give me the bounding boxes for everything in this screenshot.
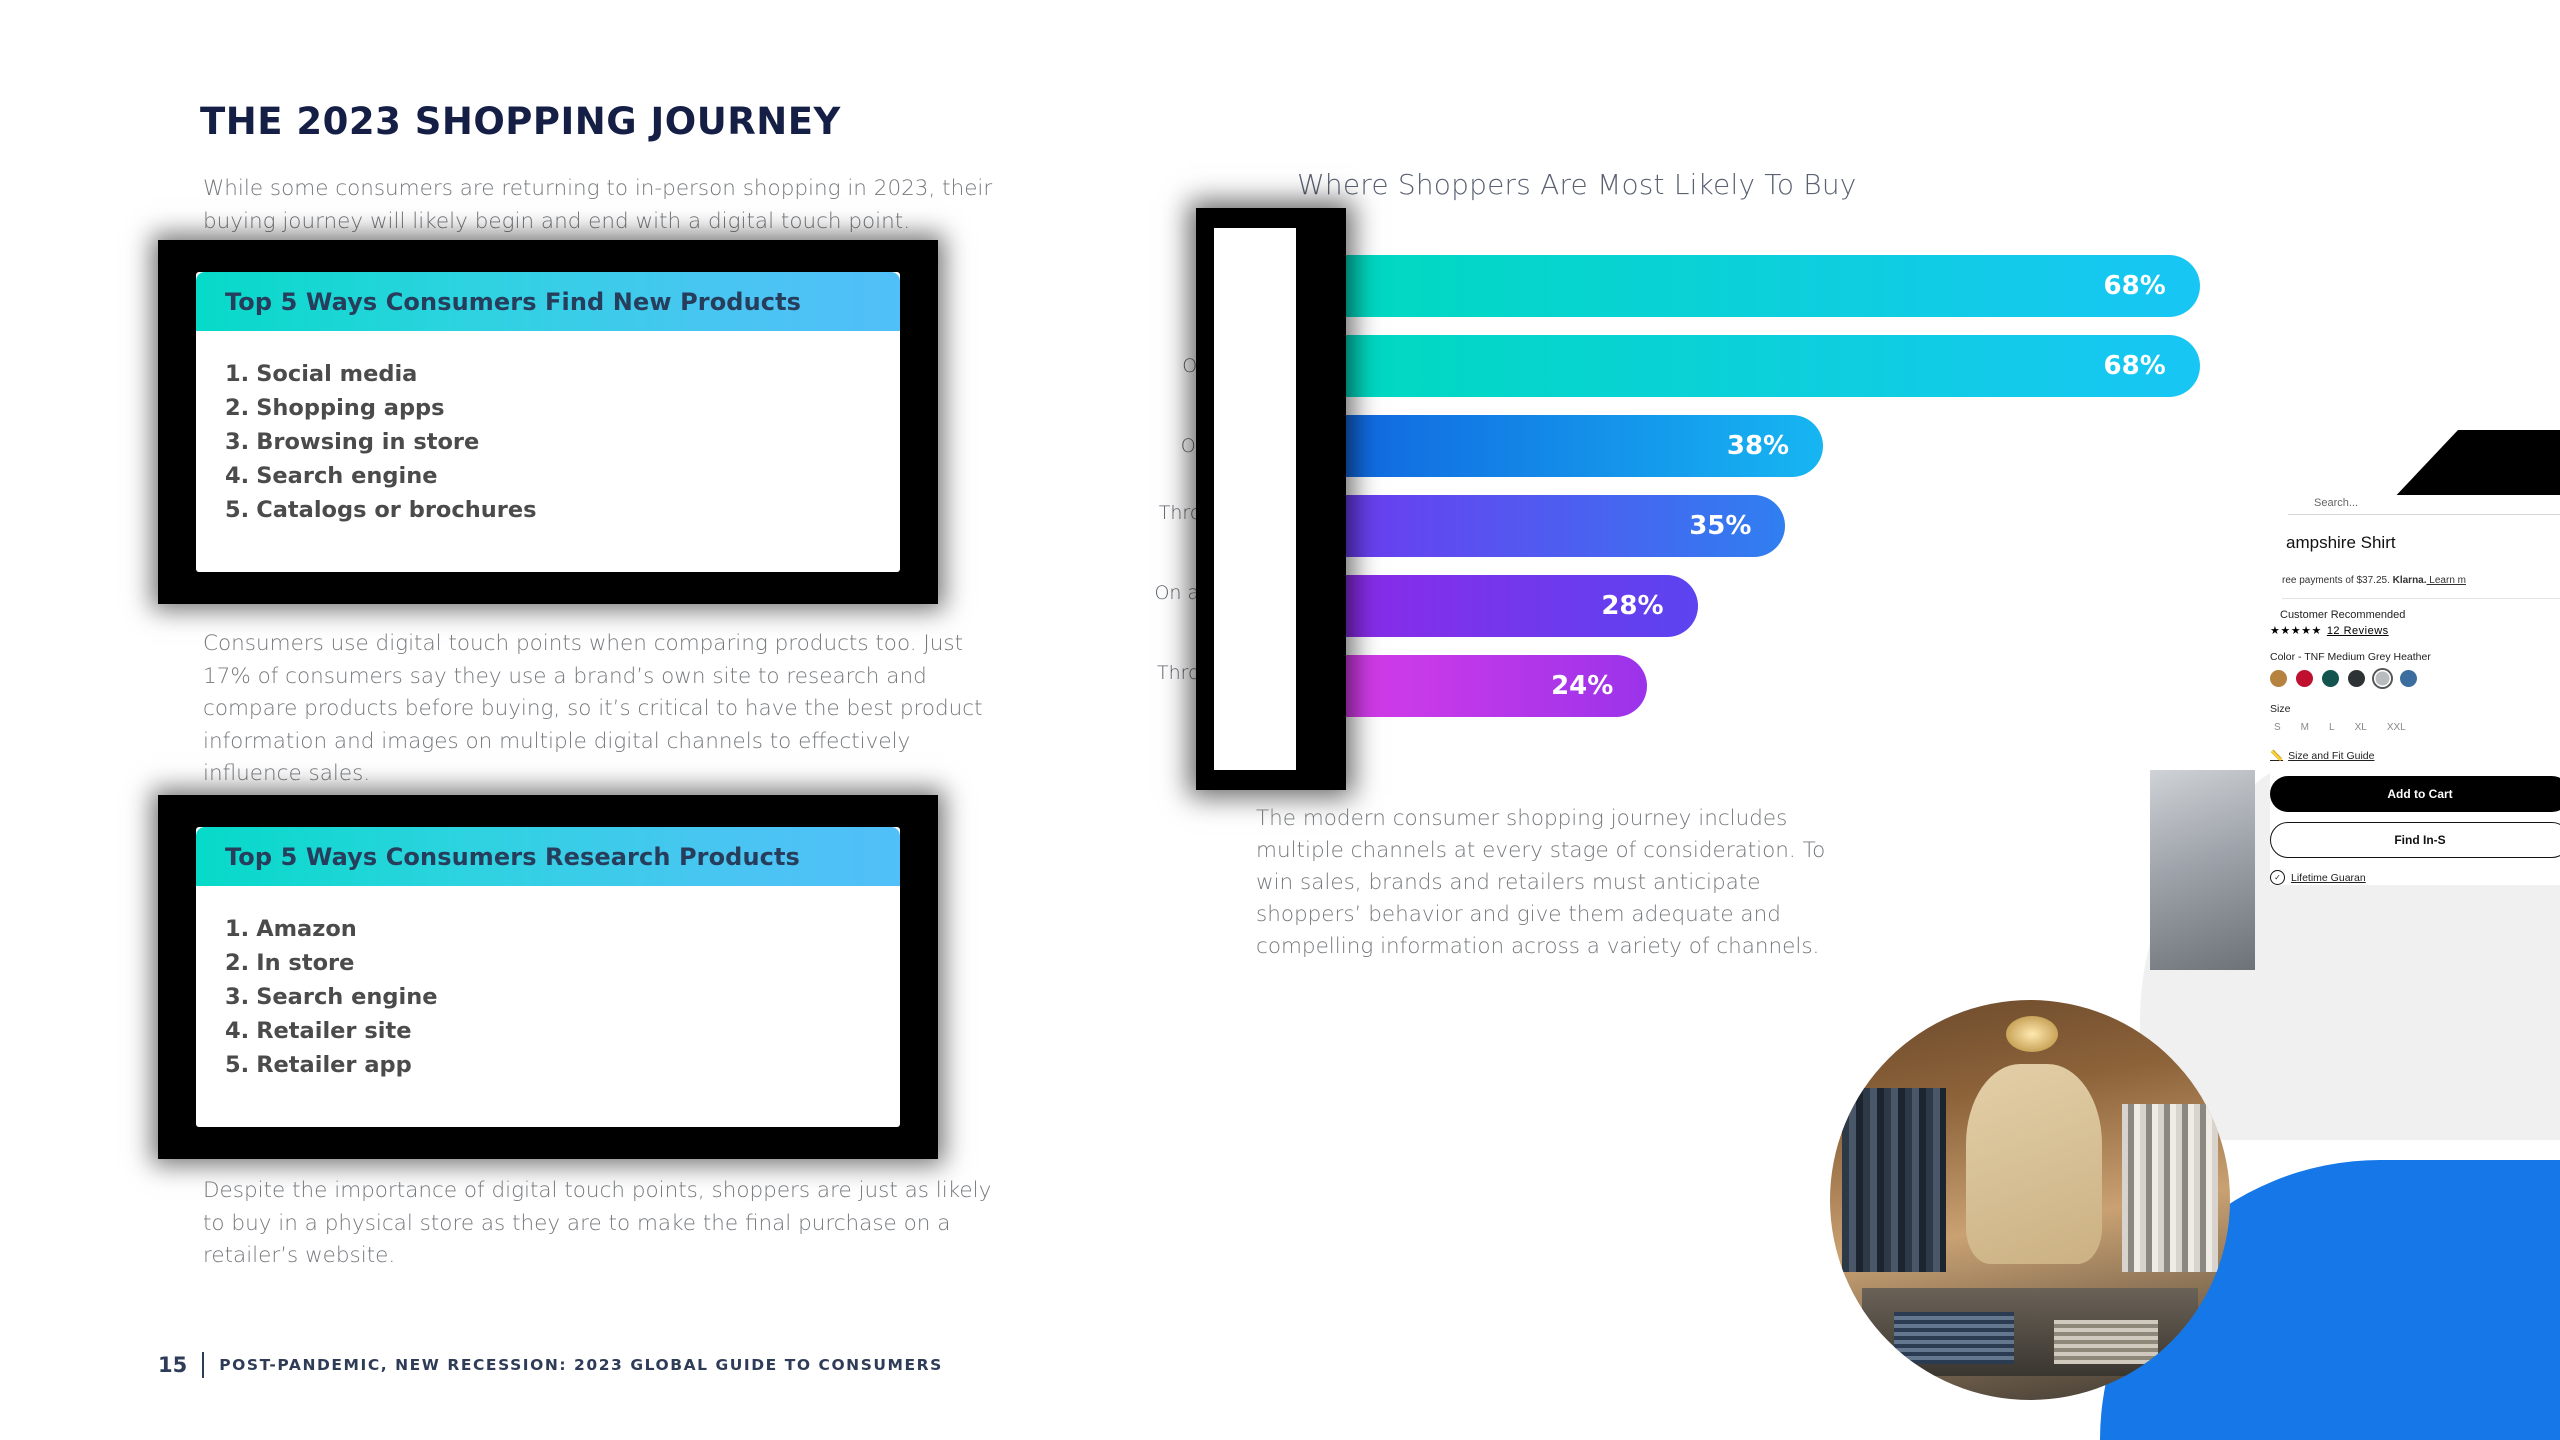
color-swatch[interactable] [2400,670,2417,687]
bar: 28% [1346,575,1698,637]
list-item-label: Catalogs or brochures [256,497,536,523]
color-swatches [2270,670,2560,687]
bar-track: 24% [1346,655,2250,717]
add-to-cart-button[interactable]: Add to Cart [2270,776,2560,812]
clothing-rack-left [1842,1088,1946,1272]
bottom-paragraph: Despite the importance of digital touch … [203,1175,1013,1273]
payment-note-text: ree payments of $37.25. [2282,575,2393,586]
list-item-label: Shopping apps [256,395,444,421]
bar: 38% [1346,415,1823,477]
size-fit-guide-label: Size and Fit Guide [2288,750,2374,762]
list-item: 4.Retailer site [225,1014,900,1048]
intro-paragraph: While some consumers are returning to in… [203,173,1033,238]
card-inner: Top 5 Ways Consumers Find New Products 1… [196,272,900,572]
card-inner: Top 5 Ways Consumers Research Products 1… [196,827,900,1127]
list-item-number: 1. [225,916,249,942]
size-label: Size [2270,703,2560,715]
clothing-rack-right [2122,1104,2218,1272]
list-item-number: 2. [225,395,249,421]
list-item-label: Retailer site [256,1018,411,1044]
bar: 68% [1346,335,2200,397]
card-header: Top 5 Ways Consumers Find New Products [196,272,900,331]
list-item-number: 4. [225,463,249,489]
payment-note: ree payments of $37.25. Klarna. Learn m [2282,575,2560,599]
size-options: S M L XL XXL [2274,722,2560,733]
page-title: THE 2023 SHOPPING JOURNEY [200,100,841,143]
page-number: 15 [158,1353,187,1377]
reviews-link[interactable]: 12 Reviews [2327,625,2389,637]
color-swatch[interactable] [2296,670,2313,687]
list-item: 5.Catalogs or brochures [225,493,900,527]
bar: 35% [1346,495,1785,557]
list-item-number: 3. [225,984,249,1010]
find-in-store-button[interactable]: Find In-S [2270,822,2560,858]
size-option[interactable]: XL [2355,722,2367,733]
list-item: 3.Search engine [225,980,900,1014]
color-swatch[interactable] [2348,670,2365,687]
model-photo [2150,770,2255,970]
occluder-hole [1214,228,1296,770]
size-fit-guide-link[interactable]: 📏Size and Fit Guide [2270,749,2560,762]
klarna-brand: Klarna. [2393,575,2427,586]
list-item-number: 2. [225,950,249,976]
star-icon: ★★★★★ [2270,625,2322,637]
list-item-label: Retailer app [256,1052,412,1078]
list-item-label: Browsing in store [256,429,479,455]
product-title: ampshire Shirt [2286,533,2560,553]
list-item: 5.Retailer app [225,1048,900,1082]
card-list: 1.Amazon 2.In store 3.Search engine 4.Re… [196,886,900,1082]
bar: 68% [1346,255,2200,317]
list-item-label: Social media [256,361,417,387]
size-option[interactable]: M [2301,722,2309,733]
search-input[interactable]: Search... [2288,495,2560,515]
bar-track: 68% [1346,335,2250,397]
list-item-number: 3. [225,429,249,455]
chart-title: Where Shoppers Are Most Likely To Buy [1297,168,1857,201]
list-item: 1.Amazon [225,912,900,946]
card-list: 1.Social media 2.Shopping apps 3.Browsin… [196,331,900,527]
product-detail-panel: Search... ampshire Shirt ree payments of… [2270,495,2560,885]
folded-stack-left [1894,1312,2014,1364]
chart-caption: The modern consumer shopping journey inc… [1256,803,1856,963]
list-item: 1.Social media [225,357,900,391]
folded-stack-right [2054,1320,2158,1364]
list-item: 2.In store [225,946,900,980]
list-item: 3.Browsing in store [225,425,900,459]
store-lamp [2006,1016,2058,1052]
color-swatch[interactable] [2322,670,2339,687]
list-item-label: In store [256,950,354,976]
lifetime-guarantee-label: Lifetime Guaran [2291,872,2366,884]
list-item-number: 5. [225,497,249,523]
color-label: Color - TNF Medium Grey Heather [2270,651,2560,663]
size-option[interactable]: S [2274,722,2281,733]
customer-recommended-label: Customer Recommended [2280,609,2560,621]
list-item-label: Search engine [256,984,437,1010]
card-header: Top 5 Ways Consumers Research Products [196,827,900,886]
size-option[interactable]: XXL [2387,722,2406,733]
store-interior-photo [1830,1000,2230,1400]
ruler-icon: 📏 [2270,749,2283,762]
bar: 24% [1346,655,1647,717]
card-research-products: Top 5 Ways Consumers Research Products 1… [158,795,938,1159]
middle-paragraph: Consumers use digital touch points when … [203,628,1003,791]
footer-text: POST-PANDEMIC, NEW RECESSION: 2023 GLOBA… [219,1356,943,1374]
color-swatch[interactable] [2270,670,2287,687]
footer-divider [202,1352,204,1378]
color-swatch-selected[interactable] [2374,670,2391,687]
mannequin-shirt [1966,1064,2102,1264]
bar-track: 68% [1346,255,2250,317]
rating-row: ★★★★★12 Reviews [2270,624,2560,637]
list-item-number: 1. [225,361,249,387]
card-find-new-products: Top 5 Ways Consumers Find New Products 1… [158,240,938,604]
bar-track: 38% [1346,415,2250,477]
bar-track: 35% [1346,495,2250,557]
list-item: 4.Search engine [225,459,900,493]
size-option[interactable]: L [2329,722,2335,733]
bar-track: 28% [1346,575,2250,637]
list-item: 2.Shopping apps [225,391,900,425]
list-item-number: 5. [225,1052,249,1078]
lifetime-guarantee-link[interactable]: ✓Lifetime Guaran [2270,870,2560,885]
footer: 15 POST-PANDEMIC, NEW RECESSION: 2023 GL… [158,1352,943,1378]
black-corner-shape [2390,430,2560,502]
list-item-number: 4. [225,1018,249,1044]
learn-more-link[interactable]: Learn m [2427,575,2466,586]
occluding-black-strip [1196,208,1346,790]
check-circle-icon: ✓ [2270,870,2285,885]
list-item-label: Amazon [256,916,357,942]
list-item-label: Search engine [256,463,437,489]
